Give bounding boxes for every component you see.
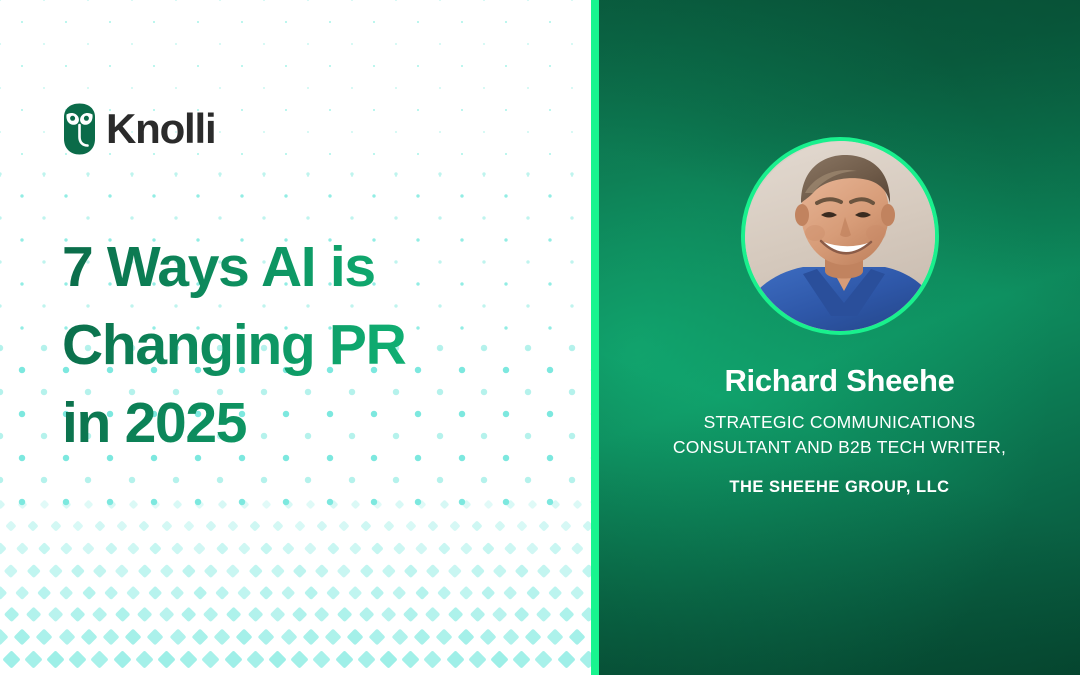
pattern-diamond: [550, 499, 560, 509]
pattern-diamond: [60, 542, 72, 554]
pattern-diamond: [348, 585, 363, 600]
pattern-diamond: [126, 585, 141, 600]
pattern-diamond: [139, 521, 150, 532]
pattern-diamond: [179, 650, 197, 668]
pattern-diamond: [435, 629, 452, 646]
headline-line-3: in 2025: [62, 384, 542, 462]
pattern-diamond: [160, 564, 174, 578]
pattern-diamond: [195, 499, 205, 509]
pattern-diamond: [450, 521, 461, 532]
pattern-diamond: [350, 499, 360, 509]
pattern-diamond: [215, 585, 230, 600]
pattern-diamond: [537, 564, 551, 578]
pattern-diamond: [104, 585, 119, 600]
avatar: [741, 137, 939, 335]
pattern-diamond: [426, 564, 440, 578]
pattern-diamond: [548, 585, 563, 600]
pattern-diamond: [216, 542, 228, 554]
pattern-diamond: [557, 650, 575, 668]
pattern-diamond: [15, 585, 30, 600]
pattern-diamond: [182, 564, 196, 578]
pattern-diamond: [582, 564, 591, 578]
pattern-diamond: [527, 542, 539, 554]
pattern-diamond: [171, 542, 183, 554]
pattern-diamond: [516, 521, 527, 532]
headline-line-2: Changing PR: [62, 306, 542, 384]
pattern-diamond: [147, 629, 164, 646]
accent-strip: [591, 0, 599, 675]
pattern-diamond: [173, 499, 183, 509]
pattern-diamond: [339, 521, 350, 532]
pattern-diamond: [91, 650, 109, 668]
pattern-diamond: [561, 521, 572, 532]
pattern-diamond: [93, 564, 107, 578]
pattern-diamond: [204, 564, 218, 578]
pattern-diamond: [0, 629, 9, 646]
pattern-diamond: [70, 607, 86, 623]
pattern-diamond: [357, 650, 375, 668]
pattern-diamond: [461, 499, 471, 509]
pattern-diamond: [249, 564, 263, 578]
pattern-diamond: [580, 607, 591, 623]
pattern-diamond: [447, 607, 463, 623]
pattern-diamond: [512, 650, 530, 668]
pattern-diamond: [494, 521, 505, 532]
pattern-diamond: [62, 499, 72, 509]
pattern-diamond: [84, 499, 94, 509]
pattern-diamond: [425, 607, 441, 623]
pattern-diamond: [0, 499, 5, 509]
pattern-diamond: [125, 629, 142, 646]
pattern-diamond: [226, 564, 240, 578]
pattern-diamond: [94, 521, 105, 532]
pattern-diamond: [281, 585, 296, 600]
pattern-diamond: [471, 564, 485, 578]
pattern-diamond: [246, 650, 264, 668]
pattern-diamond: [4, 564, 18, 578]
page-title: 7 Ways AI is Changing PR in 2025: [62, 228, 542, 462]
pattern-diamond: [169, 629, 186, 646]
pattern-diamond: [303, 585, 318, 600]
pattern-diamond: [383, 521, 394, 532]
pattern-diamond: [369, 629, 386, 646]
pattern-diamond: [327, 542, 339, 554]
pattern-diamond: [170, 585, 185, 600]
pattern-diamond: [27, 564, 41, 578]
brand-logo[interactable]: Knolli: [62, 103, 215, 155]
pattern-diamond: [515, 564, 529, 578]
pattern-diamond: [438, 542, 450, 554]
pattern-diamond: [335, 650, 353, 668]
pattern-diamond: [536, 607, 552, 623]
pattern-diamond: [469, 607, 485, 623]
pattern-diamond: [150, 499, 160, 509]
pattern-diamond: [247, 607, 263, 623]
pattern-diamond: [314, 607, 330, 623]
pattern-diamond: [326, 585, 341, 600]
pattern-diamond: [192, 585, 207, 600]
pattern-diamond: [238, 542, 250, 554]
pattern-diamond: [259, 585, 274, 600]
pattern-diamond: [480, 629, 497, 646]
pattern-diamond: [305, 542, 317, 554]
pattern-diamond: [493, 564, 507, 578]
pattern-diamond: [237, 585, 252, 600]
pattern-diamond: [302, 629, 319, 646]
pattern-diamond: [113, 650, 131, 668]
promo-slide: Knolli 7 Ways AI is Changing PR in 2025: [0, 0, 1080, 675]
pattern-diamond: [117, 521, 128, 532]
pattern-diamond: [395, 499, 405, 509]
pattern-diamond: [446, 650, 464, 668]
pattern-diamond: [328, 499, 338, 509]
pattern-diamond: [381, 607, 397, 623]
pattern-diamond: [403, 607, 419, 623]
pattern-diamond: [270, 607, 286, 623]
pattern-diamond: [250, 521, 261, 532]
pattern-diamond: [48, 607, 64, 623]
pattern-diamond: [2, 650, 20, 668]
brand-wordmark: Knolli: [106, 108, 215, 150]
pattern-diamond: [538, 521, 549, 532]
pattern-diamond: [570, 585, 585, 600]
pattern-diamond: [161, 521, 172, 532]
pattern-diamond: [404, 564, 418, 578]
pattern-diamond: [114, 607, 130, 623]
pattern-diamond: [217, 499, 227, 509]
pattern-diamond: [224, 650, 242, 668]
headline-line-1: 7 Ways AI is: [62, 228, 542, 306]
pattern-diamond: [183, 521, 194, 532]
pattern-diamond: [181, 607, 197, 623]
pattern-diamond: [136, 607, 152, 623]
pattern-diamond: [159, 607, 175, 623]
pattern-diamond: [28, 521, 39, 532]
pattern-diamond: [268, 650, 286, 668]
pattern-diamond: [157, 650, 175, 668]
speaker-name: Richard Sheehe: [724, 364, 954, 398]
pattern-diamond: [106, 499, 116, 509]
pattern-diamond: [24, 650, 42, 668]
pattern-diamond: [213, 629, 230, 646]
pattern-diamond: [228, 521, 239, 532]
pattern-diamond: [579, 650, 591, 668]
pattern-diamond: [460, 542, 472, 554]
pattern-diamond: [424, 650, 442, 668]
pattern-diamond: [225, 607, 241, 623]
speaker-company: THE SHEEHE GROUP, LLC: [729, 478, 949, 497]
pattern-diamond: [17, 499, 27, 509]
pattern-diamond: [502, 629, 519, 646]
pattern-diamond: [284, 499, 294, 509]
pattern-diamond: [258, 629, 275, 646]
pattern-diamond: [349, 542, 361, 554]
pattern-diamond: [401, 650, 419, 668]
pattern-diamond: [280, 629, 297, 646]
pattern-diamond: [80, 629, 97, 646]
pattern-diamond: [14, 629, 31, 646]
pattern-diamond: [405, 521, 416, 532]
pattern-diamond: [558, 607, 574, 623]
pattern-diamond: [372, 499, 382, 509]
pattern-diamond: [290, 650, 308, 668]
pattern-diamond: [569, 629, 586, 646]
pattern-diamond: [102, 629, 119, 646]
pattern-diamond: [583, 521, 591, 532]
pattern-diamond: [92, 607, 108, 623]
pattern-diamond: [504, 542, 516, 554]
pattern-diamond: [306, 499, 316, 509]
pattern-diamond: [371, 542, 383, 554]
pattern-diamond: [138, 564, 152, 578]
pattern-diamond: [58, 629, 75, 646]
pattern-diamond: [81, 585, 96, 600]
pattern-diamond: [25, 607, 41, 623]
pattern-diamond: [282, 542, 294, 554]
pattern-diamond: [293, 564, 307, 578]
pattern-diamond: [36, 629, 53, 646]
speaker-headshot: [745, 141, 935, 331]
pattern-diamond: [337, 564, 351, 578]
pattern-diamond: [148, 585, 163, 600]
pattern-diamond: [68, 650, 86, 668]
pattern-diamond: [482, 542, 494, 554]
pattern-diamond: [149, 542, 161, 554]
pattern-diamond: [358, 607, 374, 623]
pattern-diamond: [572, 499, 582, 509]
pattern-diamond: [50, 521, 61, 532]
pattern-diamond: [202, 650, 220, 668]
pattern-diamond: [38, 542, 50, 554]
pattern-diamond: [313, 650, 331, 668]
pattern-diamond: [16, 542, 28, 554]
speaker-role: STRATEGIC COMMUNICATIONS CONSULTANT AND …: [630, 410, 1050, 461]
pattern-diamond: [481, 585, 496, 600]
pattern-diamond: [490, 650, 508, 668]
pattern-diamond: [546, 629, 563, 646]
pattern-diamond: [472, 521, 483, 532]
pattern-diamond: [427, 521, 438, 532]
pattern-diamond: [128, 499, 138, 509]
pattern-diamond: [260, 542, 272, 554]
pattern-diamond: [83, 542, 95, 554]
pattern-diamond: [392, 585, 407, 600]
speaker-block: Richard Sheehe STRATEGIC COMMUNICATIONS …: [599, 0, 1080, 675]
pattern-diamond: [417, 499, 427, 509]
pattern-diamond: [3, 607, 19, 623]
pattern-diamond: [6, 521, 17, 532]
pattern-diamond: [0, 542, 6, 554]
pattern-diamond: [203, 607, 219, 623]
pattern-diamond: [458, 629, 475, 646]
speaker-role-line-2: CONSULTANT AND B2B TECH WRITER,: [673, 437, 1006, 457]
pattern-diamond: [46, 650, 64, 668]
left-panel: Knolli 7 Ways AI is Changing PR in 2025: [0, 0, 591, 675]
pattern-diamond: [535, 650, 553, 668]
pattern-diamond: [483, 499, 493, 509]
pattern-diamond: [271, 564, 285, 578]
pattern-diamond: [37, 585, 52, 600]
diamond-grid: [0, 500, 591, 675]
pattern-diamond: [413, 629, 430, 646]
pattern-diamond: [347, 629, 364, 646]
pattern-diamond: [127, 542, 139, 554]
pattern-diamond: [135, 650, 153, 668]
pattern-diamond: [414, 585, 429, 600]
pattern-diamond: [0, 585, 7, 600]
pattern-diamond: [272, 521, 283, 532]
pattern-diamond: [105, 542, 117, 554]
pattern-diamond: [503, 585, 518, 600]
pattern-diamond: [524, 629, 541, 646]
pattern-diamond: [492, 607, 508, 623]
pattern-diamond: [59, 585, 74, 600]
pattern-diamond: [261, 499, 271, 509]
pattern-diamond: [393, 542, 405, 554]
pattern-diamond: [370, 585, 385, 600]
pattern-diamond: [391, 629, 408, 646]
pattern-diamond: [316, 521, 327, 532]
pattern-diamond: [361, 521, 372, 532]
diamond-pattern-bottom: [0, 500, 591, 675]
pattern-diamond: [528, 499, 538, 509]
pattern-diamond: [360, 564, 374, 578]
pattern-diamond: [379, 650, 397, 668]
pattern-diamond: [459, 585, 474, 600]
pattern-diamond: [39, 499, 49, 509]
pattern-diamond: [236, 629, 253, 646]
pattern-diamond: [315, 564, 329, 578]
pattern-diamond: [49, 564, 63, 578]
pattern-diamond: [416, 542, 428, 554]
pattern-diamond: [571, 542, 583, 554]
pattern-diamond: [549, 542, 561, 554]
dot-pattern-top: [0, 0, 591, 190]
pattern-diamond: [294, 521, 305, 532]
pattern-diamond: [468, 650, 486, 668]
pattern-diamond: [191, 629, 208, 646]
speaker-role-line-1: STRATEGIC COMMUNICATIONS: [704, 412, 976, 432]
pattern-diamond: [71, 564, 85, 578]
pattern-diamond: [437, 585, 452, 600]
pattern-diamond: [506, 499, 516, 509]
pattern-diamond: [514, 607, 530, 623]
owl-icon: [62, 103, 97, 155]
pattern-diamond: [194, 542, 206, 554]
pattern-diamond: [448, 564, 462, 578]
pattern-diamond: [336, 607, 352, 623]
pattern-diamond: [72, 521, 83, 532]
pattern-diamond: [292, 607, 308, 623]
pattern-diamond: [382, 564, 396, 578]
pattern-diamond: [115, 564, 129, 578]
pattern-diamond: [559, 564, 573, 578]
pattern-diamond: [525, 585, 540, 600]
pattern-diamond: [205, 521, 216, 532]
pattern-diamond: [439, 499, 449, 509]
pattern-diamond: [324, 629, 341, 646]
pattern-diamond: [239, 499, 249, 509]
